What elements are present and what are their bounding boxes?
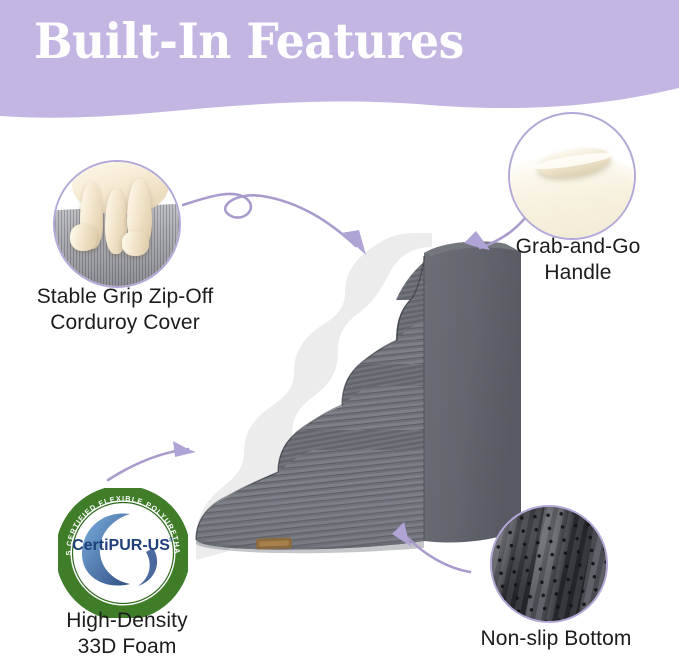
non-slip-fabric-photo — [490, 505, 608, 623]
arrow-corduroy-cover — [183, 194, 356, 246]
label-line-1: Stable Grip Zip-Off — [0, 284, 250, 310]
foam-carry-handle-photo — [508, 112, 636, 240]
badge-brand-text: CertiPUR-US — [72, 537, 170, 554]
callout-label-corduroy-cover: Stable Grip Zip-Off Corduroy Cover — [0, 284, 250, 335]
badge-trademark-symbol: ® — [169, 537, 174, 544]
label-line-2: Handle — [480, 260, 676, 286]
label-line-2: Corduroy Cover — [0, 310, 250, 336]
brand-leather-tag — [256, 537, 292, 549]
dog-paws-on-corduroy-photo — [53, 160, 181, 288]
callout-label-grab-and-go-handle: Grab-and-Go Handle — [480, 234, 676, 285]
label-line-1: Grab-and-Go — [480, 234, 676, 260]
infographic-root: Built-In Features — [0, 0, 679, 658]
callout-label-high-density-foam: High-Density 33D Foam — [16, 608, 238, 658]
callout-label-non-slip-bottom: Non-slip Bottom — [440, 626, 672, 652]
label-line-1: High-Density — [16, 608, 238, 634]
certipur-us-badge: CONTAINS CERTIFIED FLEXIBLE POLYURETHANE… — [58, 488, 188, 618]
label-line-2: 33D Foam — [16, 634, 238, 658]
label-line-1: Non-slip Bottom — [440, 626, 672, 652]
